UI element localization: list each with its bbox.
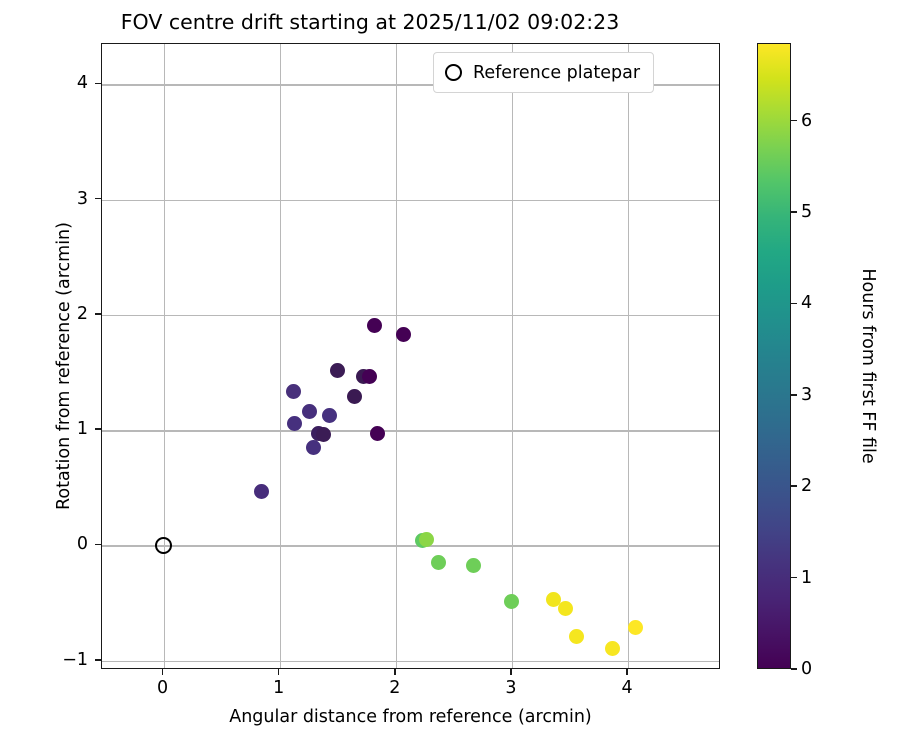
gridline-vertical: [396, 44, 397, 668]
x-axis-tick: [278, 669, 280, 675]
gridline-vertical: [628, 44, 629, 668]
x-axis-tick-label: 4: [622, 678, 633, 698]
scatter-point: [330, 363, 345, 378]
scatter-point: [370, 426, 385, 441]
y-axis-tick: [95, 659, 101, 661]
page-title: FOV centre drift starting at 2025/11/02 …: [0, 10, 740, 34]
y-axis-tick: [95, 428, 101, 430]
gridline-horizontal: [102, 545, 719, 546]
y-axis-tick: [95, 313, 101, 315]
colorbar-tick: [791, 485, 797, 487]
y-axis-tick-label: 4: [77, 73, 88, 93]
colorbar-tick: [791, 211, 797, 213]
scatter-point: [605, 641, 620, 656]
scatter-point: [347, 389, 362, 404]
colorbar-tick-label: 3: [801, 385, 812, 405]
x-axis-tick-label: 3: [505, 678, 516, 698]
scatter-point: [286, 384, 301, 399]
reference-platepar-marker-icon: [155, 537, 172, 554]
colorbar-tick: [791, 577, 797, 579]
colorbar-tick-label: 6: [801, 111, 812, 131]
scatter-point: [628, 620, 643, 635]
scatter-point: [569, 629, 584, 644]
colorbar-tick-label: 5: [801, 202, 812, 222]
x-axis-tick-label: 1: [273, 678, 284, 698]
scatter-point: [362, 369, 377, 384]
colorbar-tick-label: 0: [801, 659, 812, 679]
colorbar-label: Hours from first FF file: [858, 186, 878, 546]
scatter-point: [504, 594, 519, 609]
scatter-point: [431, 555, 446, 570]
y-axis-tick: [95, 83, 101, 85]
colorbar-tick: [791, 394, 797, 396]
scatter-point: [316, 427, 331, 442]
x-axis-tick: [626, 669, 628, 675]
gridline-vertical: [512, 44, 513, 668]
reference-platepar-marker-icon: [445, 64, 462, 81]
legend: Reference platepar: [433, 52, 654, 93]
x-axis-tick: [162, 669, 164, 675]
y-axis-tick-label: 0: [77, 534, 88, 554]
scatter-point: [306, 440, 321, 455]
colorbar-tick-label: 4: [801, 293, 812, 313]
scatter-point: [367, 318, 382, 333]
x-axis-tick: [510, 669, 512, 675]
gridline-horizontal: [102, 661, 719, 662]
gridline-horizontal: [102, 315, 719, 316]
colorbar-tick-label: 1: [801, 568, 812, 588]
y-axis-label: Rotation from reference (arcmin): [54, 186, 74, 546]
y-axis-tick: [95, 544, 101, 546]
colorbar-tick: [791, 303, 797, 305]
x-axis-tick-label: 0: [157, 678, 168, 698]
colorbar: [757, 43, 791, 669]
scatter-point: [466, 558, 481, 573]
scatter-point: [558, 601, 573, 616]
colorbar-tick-label: 2: [801, 476, 812, 496]
legend-item-label: Reference platepar: [473, 63, 640, 83]
y-axis-tick-label: 3: [77, 189, 88, 209]
gridline-horizontal: [102, 200, 719, 201]
x-axis-tick-label: 2: [389, 678, 400, 698]
matplotlib-figure: FOV centre drift starting at 2025/11/02 …: [0, 0, 900, 750]
scatter-point: [396, 327, 411, 342]
gridline-horizontal: [102, 430, 719, 431]
scatter-point: [254, 484, 269, 499]
x-axis-tick: [394, 669, 396, 675]
gridline-vertical: [280, 44, 281, 668]
scatter-point: [302, 404, 317, 419]
y-axis-tick-label: 1: [77, 419, 88, 439]
x-axis-label: Angular distance from reference (arcmin): [101, 707, 720, 727]
y-axis-tick-label: −1: [62, 650, 88, 670]
gridline-vertical: [164, 44, 165, 668]
colorbar-tick: [791, 120, 797, 122]
scatter-point: [287, 416, 302, 431]
scatter-point: [419, 532, 434, 547]
y-axis-tick-label: 2: [77, 304, 88, 324]
y-axis-tick: [95, 198, 101, 200]
scatter-plot-axes: [101, 43, 720, 669]
colorbar-tick: [791, 668, 797, 670]
scatter-point: [322, 408, 337, 423]
